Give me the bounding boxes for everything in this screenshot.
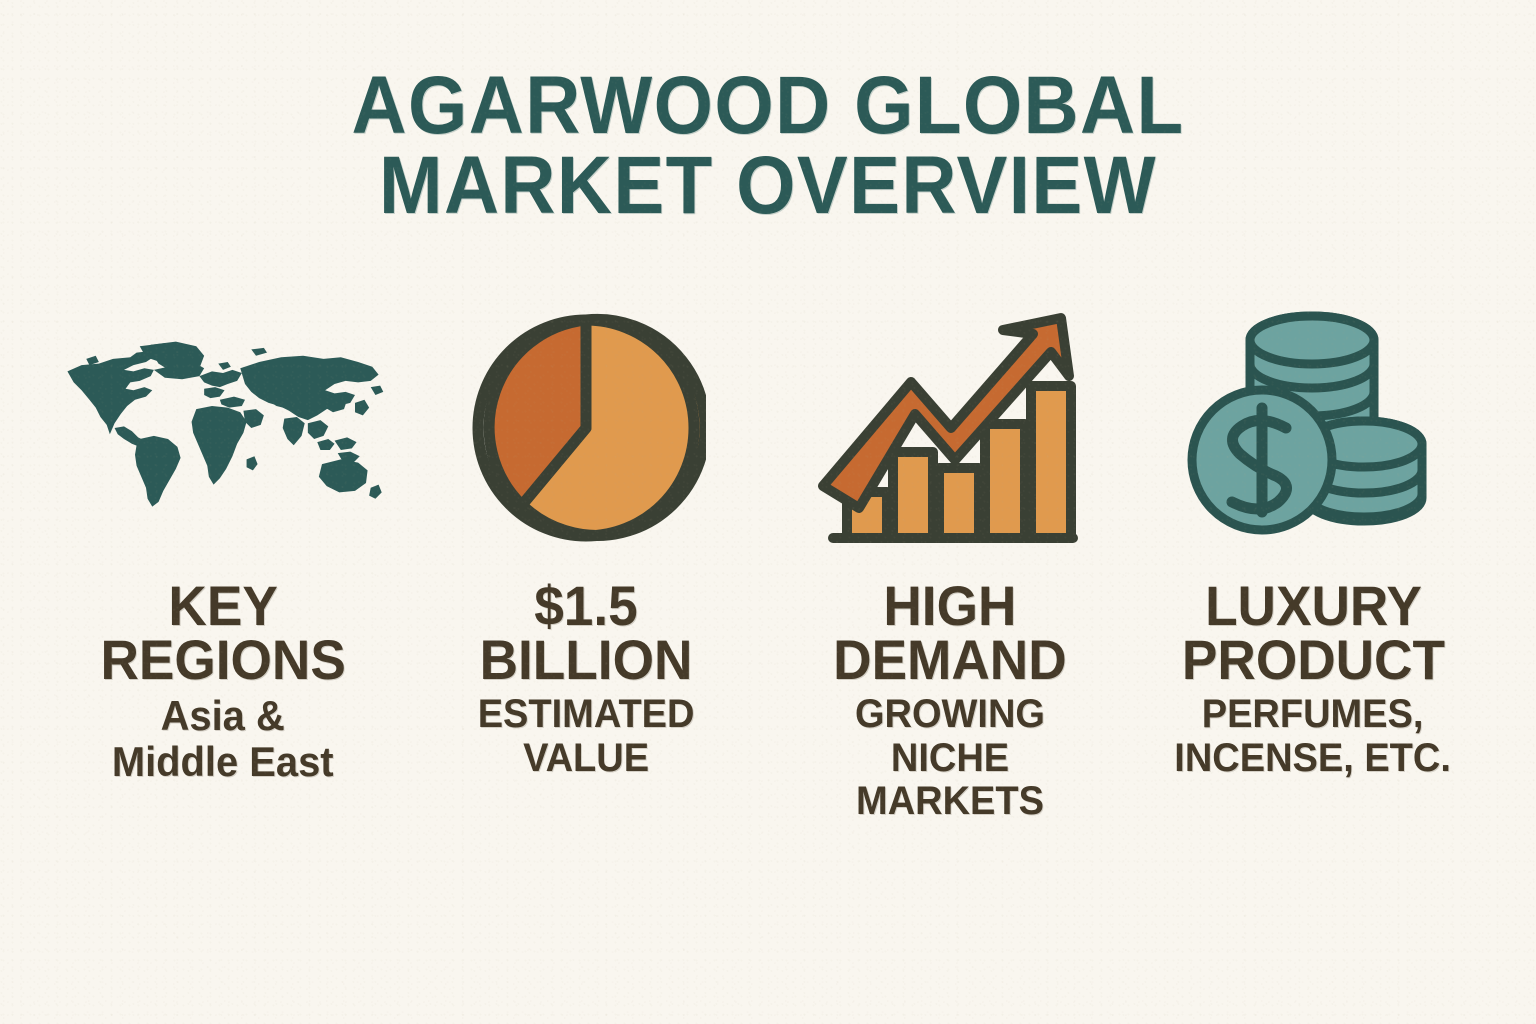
stat-headline: KEY REGIONS bbox=[100, 579, 345, 688]
stat-subtext-line: NICHE bbox=[891, 736, 1009, 780]
stat-subtext: PERFUMES, INCENSE, ETC. bbox=[1175, 693, 1452, 779]
stat-headline-line: PRODUCT bbox=[1181, 628, 1444, 691]
stat-subtext-line: Asia & bbox=[161, 692, 285, 739]
title-line-1: AGARWOOD GLOBAL bbox=[54, 66, 1482, 146]
stat-subtext-line: PERFUMES, bbox=[1202, 692, 1424, 736]
stat-headline: $1.5 BILLION bbox=[480, 579, 693, 688]
stat-headline-line: DEMAND bbox=[833, 628, 1066, 691]
stats-row: KEY REGIONS Asia & Middle East $1.5 bbox=[48, 303, 1488, 823]
stat-subtext-line: ESTIMATED bbox=[478, 692, 695, 736]
stat-subtext-line: Middle East bbox=[112, 738, 334, 785]
coins-dollar-icon bbox=[1178, 303, 1448, 553]
stat-headline-line: BILLION bbox=[480, 628, 693, 691]
stat-card-luxury-product: LUXURY PRODUCT PERFUMES, INCENSE, ETC. bbox=[1138, 303, 1488, 780]
stat-subtext-line: GROWING bbox=[855, 692, 1045, 736]
stat-card-high-demand: HIGH DEMAND GROWING NICHE MARKETS bbox=[775, 303, 1125, 823]
infographic-root: AGARWOOD GLOBAL MARKET OVERVIEW bbox=[0, 0, 1536, 1024]
stat-headline: LUXURY PRODUCT bbox=[1181, 579, 1444, 688]
pie-chart-icon bbox=[466, 303, 706, 553]
stat-subtext: Asia & Middle East bbox=[112, 693, 334, 784]
stat-card-key-regions: KEY REGIONS Asia & Middle East bbox=[48, 303, 398, 784]
stat-subtext-line: MARKETS bbox=[856, 779, 1044, 823]
world-map-icon bbox=[58, 303, 388, 553]
stat-headline: HIGH DEMAND bbox=[833, 579, 1066, 688]
growth-arrow-bar-chart-icon bbox=[815, 303, 1085, 553]
stat-subtext-line: VALUE bbox=[523, 736, 649, 780]
title-line-2: MARKET OVERVIEW bbox=[54, 146, 1482, 226]
stat-subtext-line: INCENSE, ETC. bbox=[1175, 736, 1452, 780]
page-title: AGARWOOD GLOBAL MARKET OVERVIEW bbox=[0, 66, 1536, 227]
stat-subtext: ESTIMATED VALUE bbox=[478, 693, 695, 779]
stat-card-estimated-value: $1.5 BILLION ESTIMATED VALUE bbox=[411, 303, 761, 780]
stat-headline-line: REGIONS bbox=[100, 628, 345, 691]
stat-subtext: GROWING NICHE MARKETS bbox=[855, 693, 1045, 823]
